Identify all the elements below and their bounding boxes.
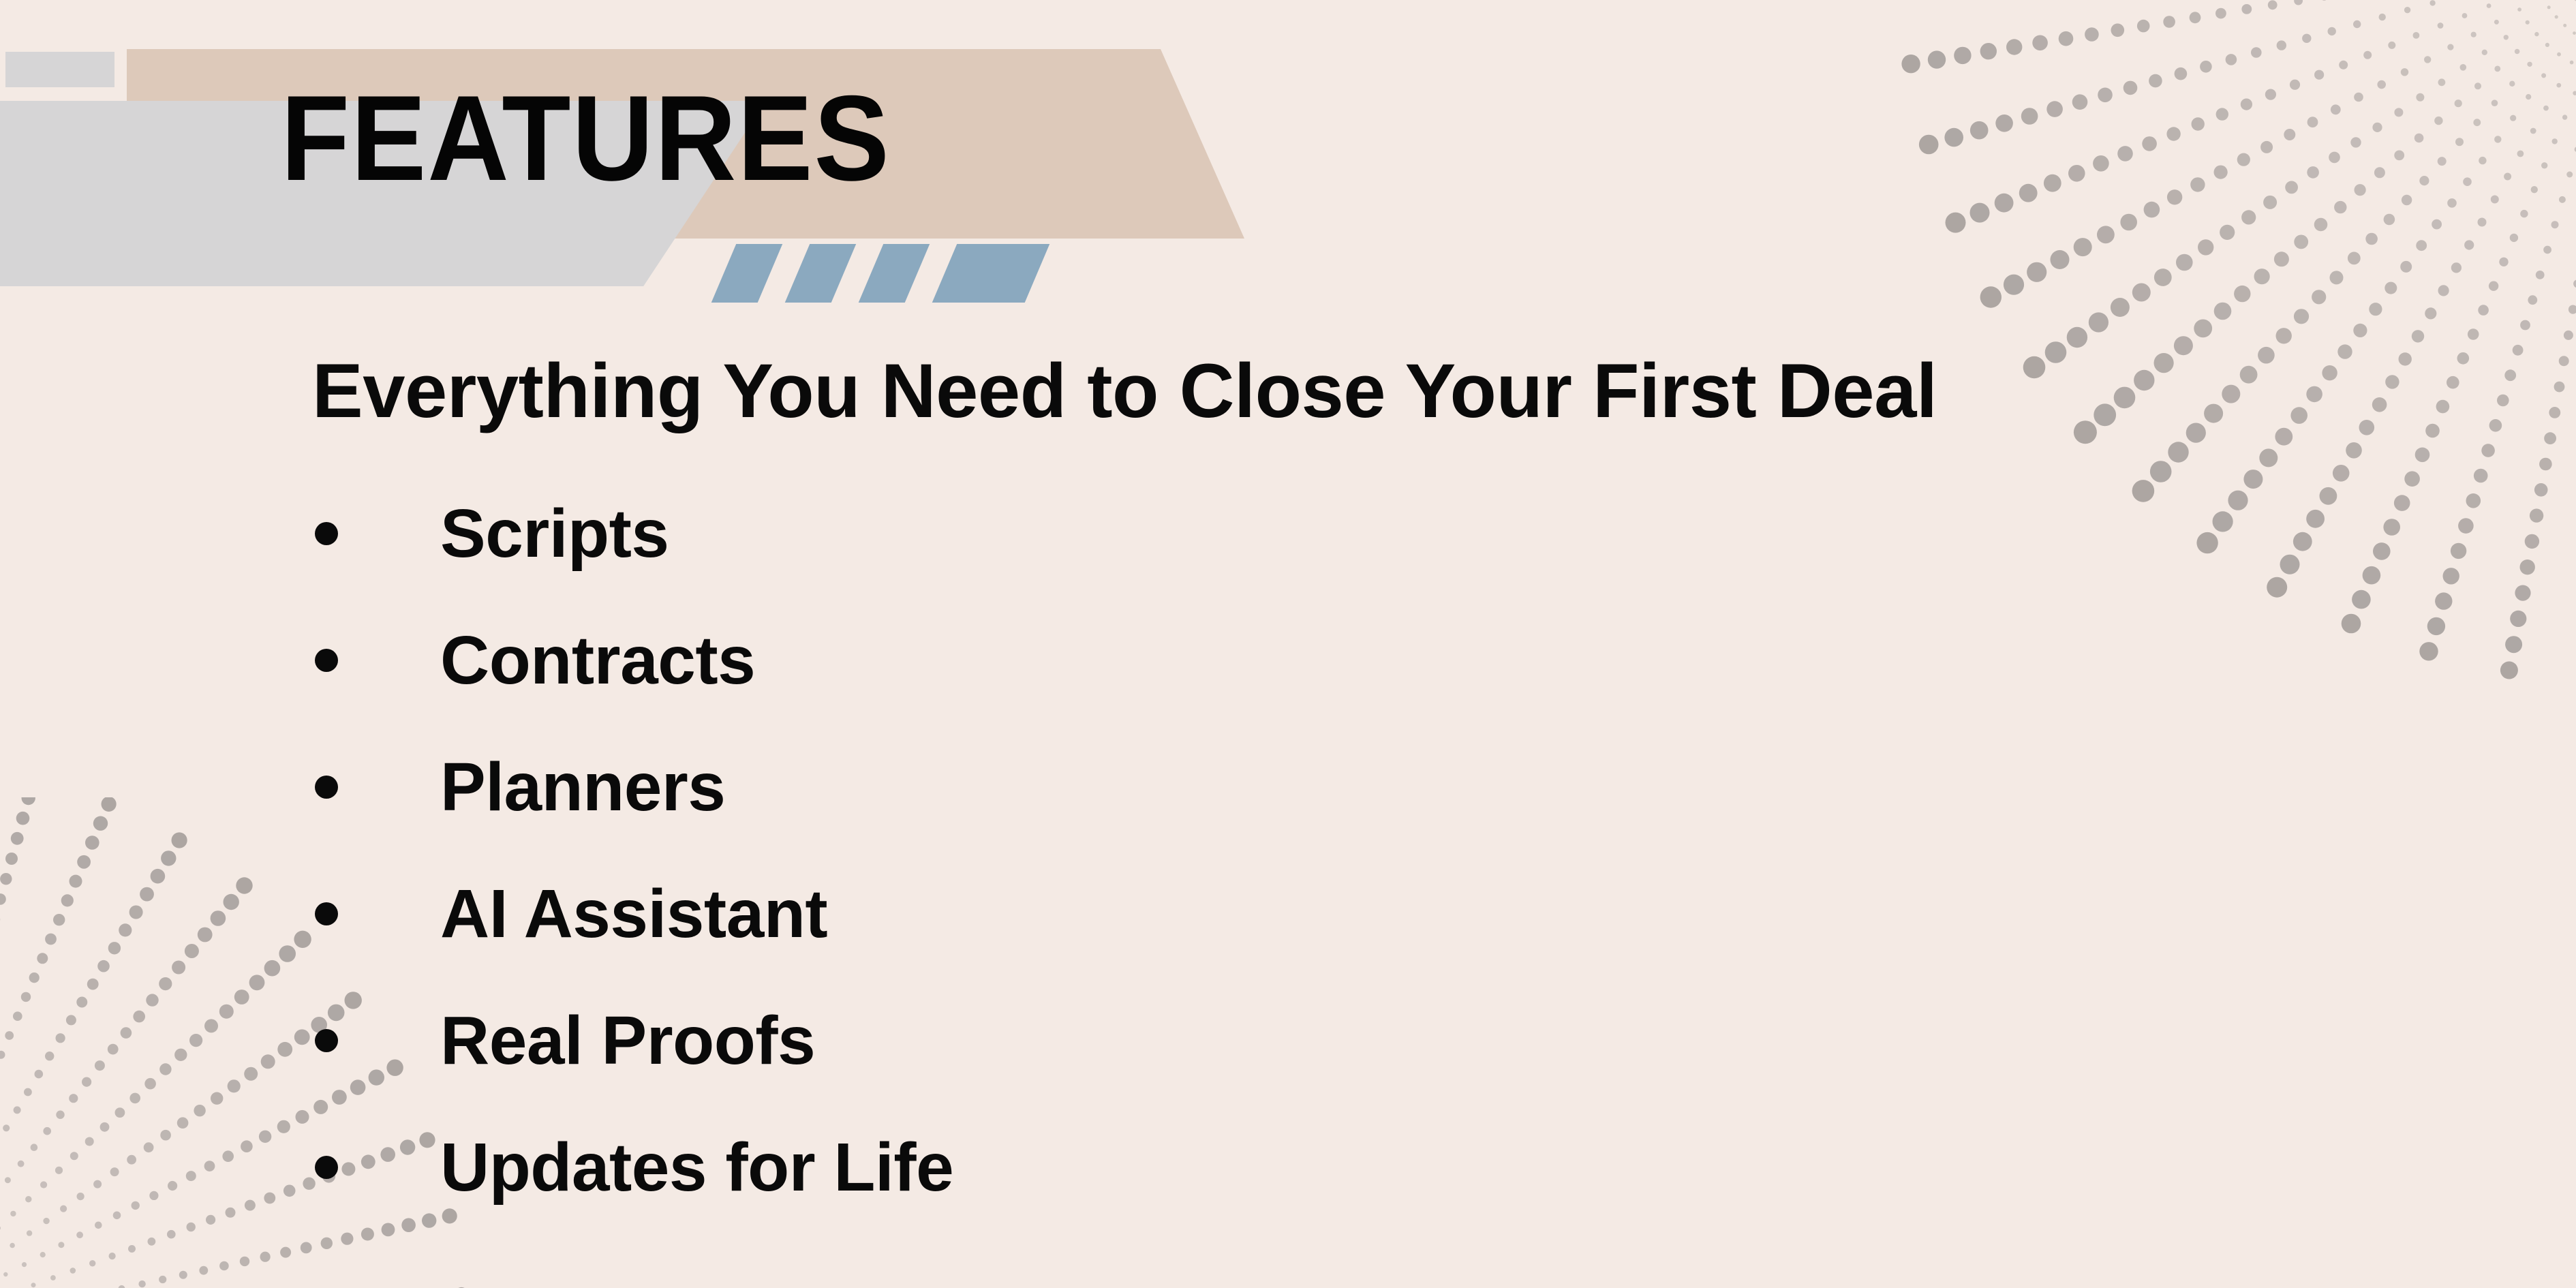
bullet-dot-icon — [315, 776, 338, 799]
list-item: Scripts — [300, 470, 953, 597]
feature-label: Real Proofs — [440, 1007, 815, 1075]
slide-canvas: FEATURES Everything You Need to Close Yo… — [0, 0, 2576, 1288]
list-item: AI Assistant — [300, 850, 953, 977]
bullet-dot-icon — [315, 902, 338, 925]
list-item: Updates for Life — [300, 1104, 953, 1231]
list-item: Planners — [300, 724, 953, 850]
accent-stripe — [785, 244, 857, 303]
header-gray-tab-shape — [5, 52, 114, 87]
accent-stripe — [711, 244, 783, 303]
feature-label: Scripts — [440, 500, 669, 568]
accent-stripe — [932, 244, 1050, 303]
bullet-dot-icon — [315, 649, 338, 672]
page-title: FEATURES — [281, 78, 891, 199]
accent-stripe — [859, 244, 930, 303]
feature-label: Planners — [440, 753, 725, 821]
list-item: Real Proofs — [300, 977, 953, 1104]
bullet-dot-icon — [315, 1156, 338, 1179]
bullet-dot-icon — [315, 1029, 338, 1052]
feature-list: Scripts Contracts Planners AI Assistant … — [300, 470, 953, 1231]
feature-label: AI Assistant — [440, 880, 827, 948]
feature-label: Contracts — [440, 626, 755, 694]
headline: Everything You Need to Close Your First … — [312, 350, 1937, 433]
accent-stripes-group — [702, 244, 1152, 303]
feature-label: Updates for Life — [440, 1133, 953, 1201]
bullet-dot-icon — [315, 522, 338, 545]
list-item: Contracts — [300, 597, 953, 724]
